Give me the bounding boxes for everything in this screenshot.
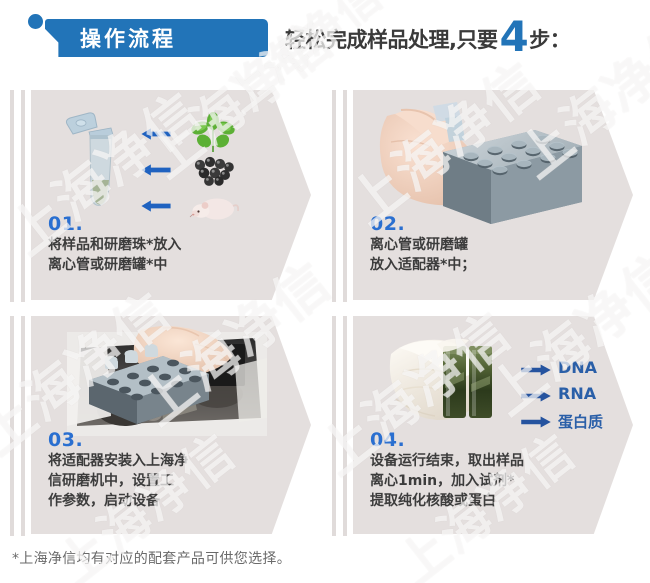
step-line: 离心1min，加入试剂* — [370, 472, 524, 492]
headline-step-count: 4 — [499, 21, 528, 54]
step-card-4: DNA RNA 蛋白质 04. 设备运行结束，取出样品 离心1min，加入试剂*… — [322, 312, 644, 544]
headline-suffix: 步： — [529, 24, 570, 54]
arrow-right-icon — [521, 416, 551, 428]
step-number: 04. — [370, 430, 524, 451]
card-accent-bar — [343, 316, 347, 536]
hand-with-adapter-block-photo — [367, 94, 582, 224]
step-line: 设备运行结束，取出样品 — [370, 452, 524, 472]
step-number: 02. — [370, 214, 475, 235]
gloved-hand-tubes-photo — [385, 332, 525, 437]
step-line: 作参数，启动设备 — [48, 492, 188, 512]
lab-mouse-icon — [189, 192, 239, 222]
step-line: 提取纯化核酸或蛋白 — [370, 492, 524, 512]
card-caption: 02. 离心管或研磨罐 放入适配器*中； — [370, 214, 475, 276]
output-label-rna: RNA — [558, 384, 596, 403]
step-number: 03. — [48, 430, 188, 451]
arrow-right-icon — [521, 364, 551, 376]
card-caption: 01. 将样品和研磨珠*放入 离心管或研磨罐*中 — [48, 214, 181, 276]
banner-label: 操作流程 — [80, 23, 176, 53]
step-line: 信研磨机中，设置工 — [48, 472, 188, 492]
arrow-left-icon — [141, 200, 171, 212]
step-card-1: 01. 将样品和研磨珠*放入 离心管或研磨罐*中 — [0, 86, 320, 310]
card-accent-bar — [332, 316, 336, 536]
step-number: 01. — [48, 214, 181, 235]
section-banner: 操作流程 — [28, 13, 268, 57]
card-accent-bar — [343, 90, 347, 302]
step-line: 离心管或研磨罐*中 — [48, 256, 181, 276]
step-card-3: 03. 将适配器安装入上海净 信研磨机中，设置工 作参数，启动设备 — [0, 312, 320, 544]
card-accent-bar — [332, 90, 336, 302]
card-accent-bar — [21, 90, 25, 302]
steps-grid: 01. 将样品和研磨珠*放入 离心管或研磨罐*中 — [0, 78, 650, 538]
step-line: 离心管或研磨罐 — [370, 236, 475, 256]
card-caption: 04. 设备运行结束，取出样品 离心1min，加入试剂* 提取纯化核酸或蛋白 — [370, 430, 524, 512]
banner-dot-icon — [28, 14, 43, 29]
grinding-beads-icon — [191, 154, 237, 188]
step-line: 放入适配器*中； — [370, 256, 475, 276]
hand-installing-adapter-photo — [67, 322, 267, 442]
step-line: 将样品和研磨珠*放入 — [48, 236, 181, 256]
headline-prefix: 轻松完成样品处理,只要 — [285, 24, 497, 54]
card-caption: 03. 将适配器安装入上海净 信研磨机中，设置工 作参数，启动设备 — [48, 430, 188, 512]
plant-leaf-icon — [191, 112, 235, 156]
arrow-left-icon — [141, 128, 171, 140]
card-accent-bar — [21, 316, 25, 536]
centrifuge-tube-icon — [59, 108, 131, 218]
arrow-left-icon — [141, 164, 171, 176]
footnote: *上海净信均有对应的配套产品可供您选择。 — [12, 548, 291, 568]
step-line: 将适配器安装入上海净 — [48, 452, 188, 472]
card-accent-bar — [10, 316, 14, 536]
arrow-right-icon — [521, 390, 551, 402]
output-label-protein: 蛋白质 — [558, 411, 603, 432]
output-label-dna: DNA — [558, 358, 597, 377]
page-header: 操作流程 轻松完成样品处理,只要 4 步： — [0, 0, 650, 78]
page-headline: 轻松完成样品处理,只要 4 步： — [285, 17, 570, 54]
card-accent-bar — [10, 90, 14, 302]
step-card-2: 02. 离心管或研磨罐 放入适配器*中； — [322, 86, 644, 310]
